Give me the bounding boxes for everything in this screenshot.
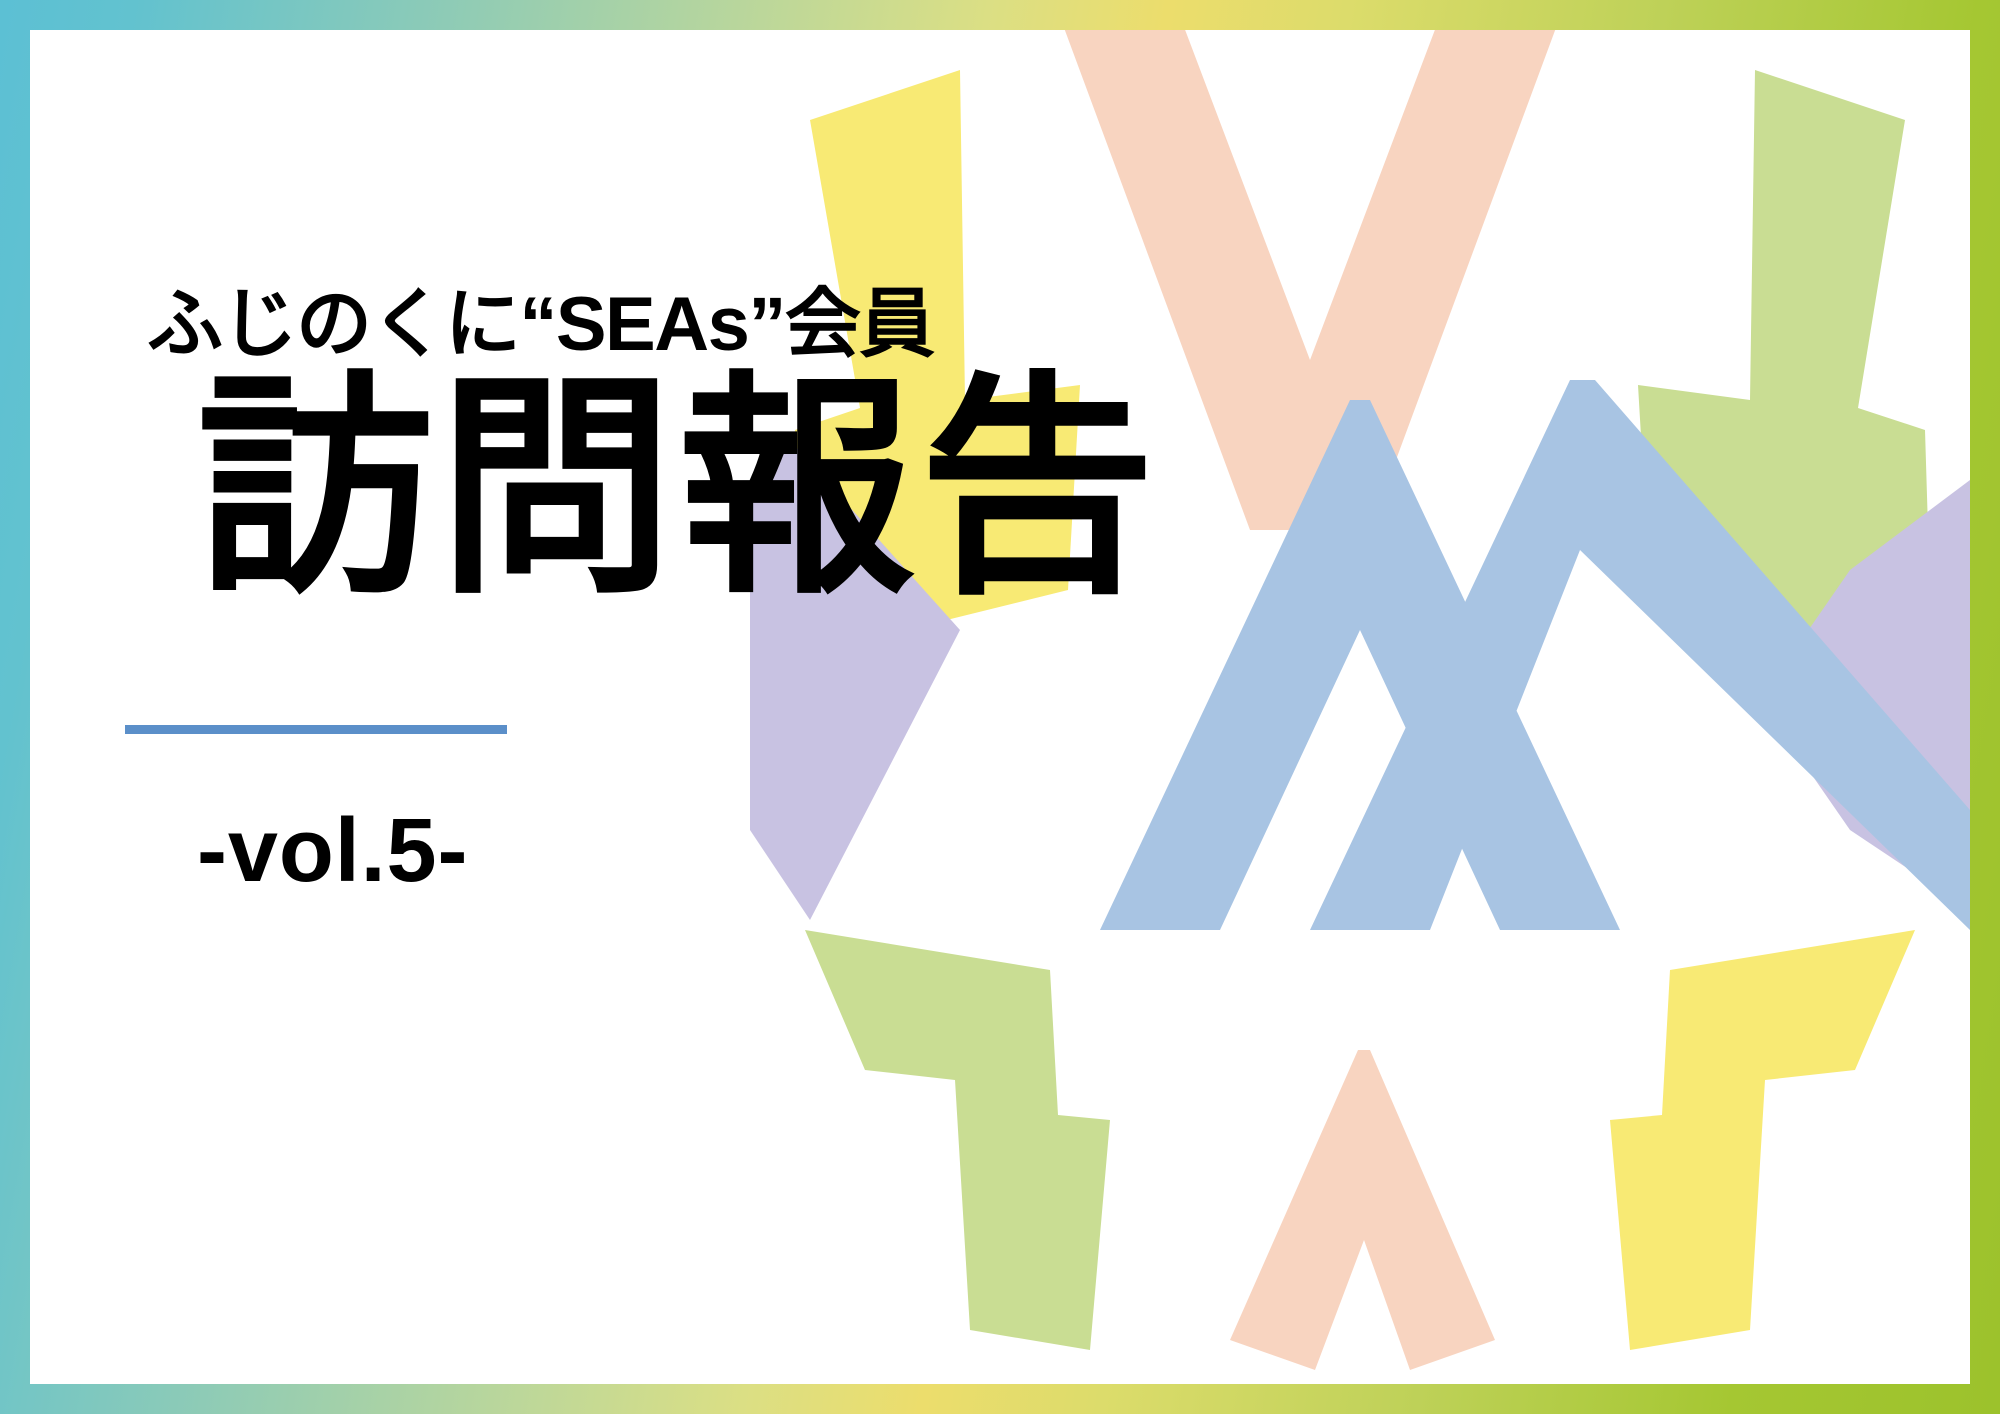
title-text-block: ふじのくに“SEAs”会員 訪問報告 -vol.5-	[125, 285, 1225, 896]
slide-root: ふじのくに“SEAs”会員 訪問報告 -vol.5-	[0, 0, 2000, 1414]
eyebrow-text: ふじのくに“SEAs”会員	[147, 285, 1225, 365]
yellow-ribbon-lower-right-icon	[1610, 930, 1915, 1350]
volume-label: -vol.5-	[197, 806, 1225, 896]
blue-chevron-center-icon	[1100, 380, 1970, 930]
green-ribbon-lower-left-icon	[805, 930, 1110, 1350]
page-title: 訪問報告	[197, 371, 1225, 607]
purple-shard-right-icon	[1760, 480, 1970, 910]
slide-page: ふじのくに“SEAs”会員 訪問報告 -vol.5-	[30, 30, 1970, 1384]
title-divider-rule	[125, 725, 507, 734]
green-ribbon-upper-right-icon	[1638, 70, 1932, 660]
peach-chevron-bottom-icon	[1230, 1050, 1495, 1370]
